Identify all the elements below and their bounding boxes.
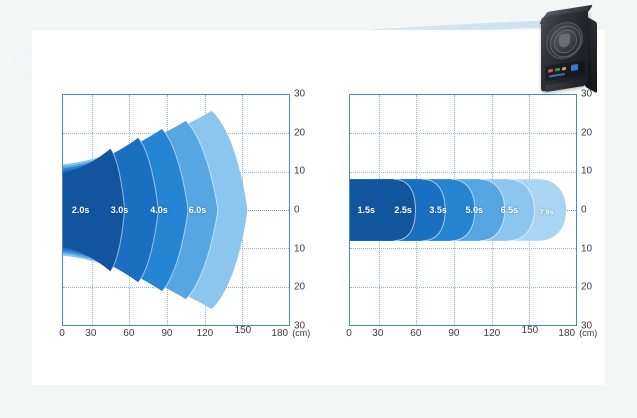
y-tick: 30 <box>294 89 305 100</box>
x-tick: 90 <box>448 328 459 339</box>
y-tick: 20 <box>581 282 592 293</box>
led-indicator-red <box>548 69 553 73</box>
x-tick: 0 <box>346 328 352 339</box>
x-tick: 30 <box>85 328 96 339</box>
product-image-ionizing-air-blower <box>531 6 601 94</box>
y-tick: 20 <box>294 282 305 293</box>
x-tick: 180 <box>271 328 288 339</box>
y-tick: 10 <box>581 243 592 254</box>
x-tick: 120 <box>484 328 501 339</box>
band-label: 3.0s <box>111 205 129 215</box>
band-label: 2.5s <box>394 205 412 215</box>
band-label: 4.0s <box>150 205 168 215</box>
x-tick: 60 <box>123 328 134 339</box>
x-axis-unit: (cm) <box>292 328 310 338</box>
decay-bands-left <box>63 95 289 325</box>
band-label: 7.9s <box>539 208 554 217</box>
chart-wide-angle: 2.0s 3.0s 4.0s 6.0s 30 20 10 0 10 20 30 … <box>40 94 298 326</box>
x-tick: 180 <box>558 328 575 339</box>
y-tick: 20 <box>294 127 305 138</box>
x-tick: 150 <box>235 325 252 336</box>
content-card: 2.0s 3.0s 4.0s 6.0s 30 20 10 0 10 20 30 … <box>32 30 605 385</box>
x-tick: 0 <box>59 328 65 339</box>
plot-wrapper-left: 2.0s 3.0s 4.0s 6.0s 30 20 10 0 10 20 30 … <box>62 94 290 326</box>
panel-readout <box>549 73 565 78</box>
x-tick: 150 <box>522 325 539 336</box>
y-tick: 0 <box>581 205 587 216</box>
panel-button[interactable] <box>571 64 578 71</box>
x-tick: 60 <box>410 328 421 339</box>
band-label: 6.0s <box>189 205 207 215</box>
band-label: 2.0s <box>72 205 90 215</box>
band-label: 5.0s <box>466 205 484 215</box>
charts-row: 2.0s 3.0s 4.0s 6.0s 30 20 10 0 10 20 30 … <box>32 30 605 385</box>
x-tick: 90 <box>161 328 172 339</box>
band-label: 6.5s <box>501 205 519 215</box>
led-indicator-amber <box>562 67 566 71</box>
y-tick: 0 <box>294 205 300 216</box>
x-axis-unit: (cm) <box>579 328 597 338</box>
y-tick: 10 <box>294 243 305 254</box>
plot-wrapper-right: 1.5s 2.5s 3.5s 5.0s 6.5s 7.9s 30 20 10 0… <box>349 94 577 326</box>
led-indicator-green <box>555 68 560 72</box>
y-tick: 20 <box>581 127 592 138</box>
plot-area-right: 1.5s 2.5s 3.5s 5.0s 6.5s 7.9s <box>349 94 577 326</box>
y-tick: 10 <box>581 166 592 177</box>
x-tick: 30 <box>372 328 383 339</box>
band-label: 1.5s <box>358 205 376 215</box>
chart-right-angle: 1.5s 2.5s 3.5s 5.0s 6.5s 7.9s 30 20 10 0… <box>327 94 585 326</box>
band-label: 3.5s <box>429 205 447 215</box>
y-tick: 10 <box>294 166 305 177</box>
x-tick: 120 <box>197 328 214 339</box>
plot-area-left: 2.0s 3.0s 4.0s 6.0s <box>62 94 290 326</box>
